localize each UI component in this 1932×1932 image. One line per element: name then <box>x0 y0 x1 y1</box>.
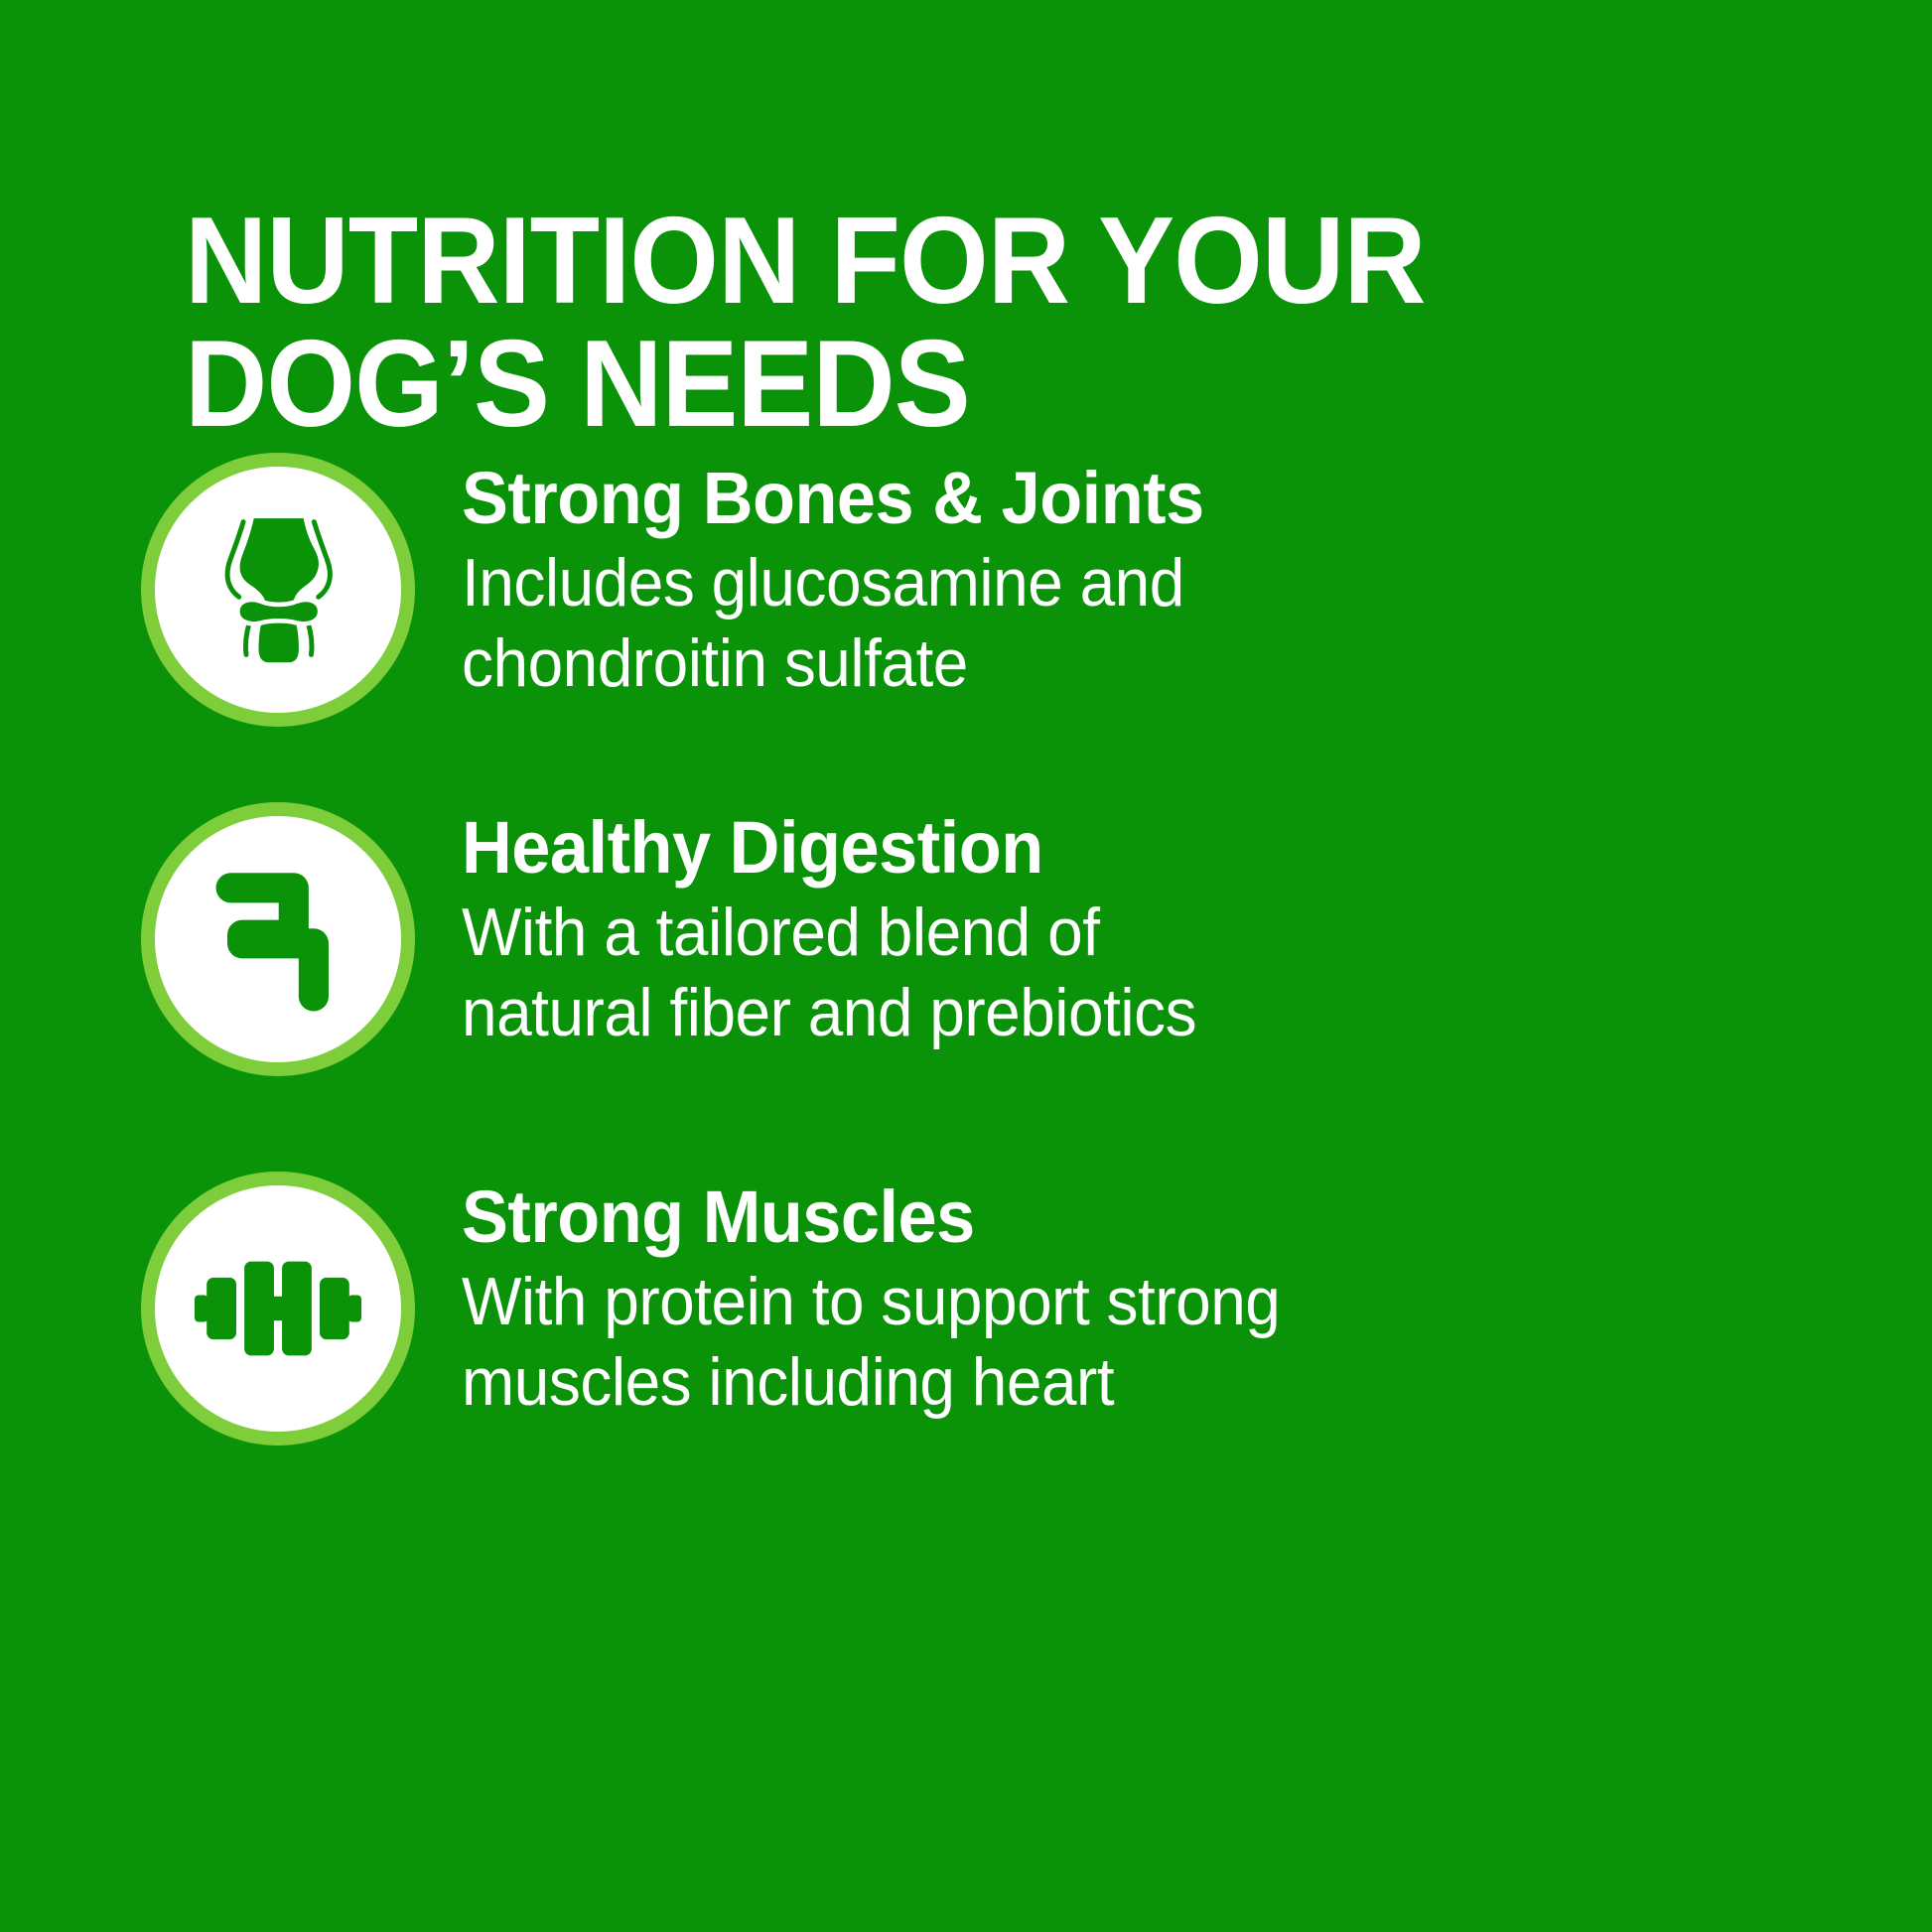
intestine-icon <box>200 865 356 1014</box>
feature-text-block: Strong Bones & Joints Includes glucosami… <box>462 437 1932 703</box>
feature-title: Strong Bones & Joints <box>462 461 1859 535</box>
bone-joint-icon <box>204 510 352 669</box>
dumbbell-icon <box>195 1254 361 1363</box>
feature-text-block: Healthy Digestion With a tailored blend … <box>462 786 1932 1052</box>
page-title: NUTRITION FOR YOUR DOG’S NEEDS <box>185 200 1681 446</box>
icon-badge-digestion <box>141 802 415 1076</box>
feature-description: Includes glucosamine and chondroitin sul… <box>462 543 1844 702</box>
feature-title: Strong Muscles <box>462 1179 1859 1254</box>
feature-row-digestion: Healthy Digestion With a tailored blend … <box>0 786 1932 1156</box>
feature-text-block: Strong Muscles With protein to support s… <box>462 1156 1932 1422</box>
icon-badge-bones-joints <box>141 453 415 727</box>
icon-badge-muscles <box>141 1172 415 1446</box>
icon-circle <box>141 453 415 727</box>
feature-description: With protein to support strong muscles i… <box>462 1262 1844 1421</box>
icon-circle <box>141 1172 415 1446</box>
icon-circle <box>141 802 415 1076</box>
feature-row-muscles: Strong Muscles With protein to support s… <box>0 1156 1932 1525</box>
feature-title: Healthy Digestion <box>462 810 1859 885</box>
feature-row-bones-joints: Strong Bones & Joints Includes glucosami… <box>0 437 1932 786</box>
feature-list: Strong Bones & Joints Includes glucosami… <box>0 437 1932 1525</box>
nutrition-benefits-poster: NUTRITION FOR YOUR DOG’S NEEDS <box>0 0 1932 1932</box>
feature-description: With a tailored blend of natural fiber a… <box>462 893 1844 1051</box>
